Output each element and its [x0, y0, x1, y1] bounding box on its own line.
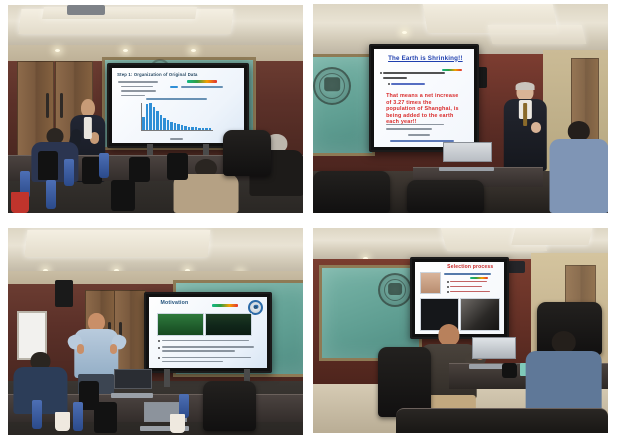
water-bottle — [32, 400, 42, 429]
display-stand — [164, 369, 170, 388]
slide-motivation: Motivation — [149, 297, 267, 368]
university-seal-icon — [313, 67, 351, 105]
slide-body-line — [121, 86, 153, 88]
presenter-head — [438, 324, 459, 346]
slide-bullet-line — [162, 357, 252, 359]
attendee-torso — [549, 139, 608, 213]
wall-display: The Earth is Shrinking!! That means a ne… — [369, 44, 479, 153]
lecturer-hand — [531, 122, 541, 133]
water-bottle — [64, 159, 74, 186]
foreground-bench — [396, 408, 608, 433]
slide-title: Step 1: Organization of Original Data — [117, 72, 197, 77]
bar — [149, 103, 152, 130]
ceiling-panel — [511, 228, 593, 244]
slide-body-line — [121, 90, 155, 92]
legend-gradient-bar — [442, 69, 462, 71]
microphone — [167, 153, 188, 180]
university-seal-icon — [378, 273, 412, 307]
scene-top-right: The Earth is Shrinking!! That means a ne… — [313, 4, 608, 213]
presenter-shirt — [84, 117, 92, 139]
slide-earth-is-shrinking: The Earth is Shrinking!! That means a ne… — [374, 49, 474, 148]
laptop — [443, 142, 490, 171]
ceiling-panel — [24, 230, 210, 257]
office-chair — [223, 130, 270, 176]
downlight-icon — [191, 49, 196, 52]
ceiling-projector — [508, 261, 526, 273]
legend-gradient-bar — [187, 80, 216, 83]
seal-core — [324, 78, 340, 92]
legend-swatch — [170, 86, 178, 89]
bar — [160, 115, 163, 130]
listener-head — [551, 331, 576, 354]
slide-subtitle-line — [444, 273, 492, 275]
photo-collage: Step 1: Organization of Original Data — [0, 0, 623, 447]
display-panel: Selection process — [415, 262, 503, 334]
scene-bottom-left: Motivation — [8, 228, 303, 435]
slide-title: The Earth is Shrinking!! — [388, 55, 463, 62]
water-bottle — [99, 153, 109, 178]
presenter-hand — [77, 344, 85, 354]
legend-gradient-bar — [212, 304, 238, 307]
laptop-screen — [443, 142, 492, 162]
photo-bottom-left: Motivation — [8, 228, 303, 435]
ceiling-panel — [488, 25, 587, 44]
photo-top-right: The Earth is Shrinking!! That means a ne… — [313, 4, 608, 213]
lecturer-tie — [524, 103, 528, 126]
legend-label — [181, 86, 223, 88]
slide-bullet-line — [391, 83, 425, 85]
laptop-keyboard — [439, 167, 495, 172]
histogram-chart — [142, 103, 211, 130]
laptop-keyboard — [111, 393, 153, 398]
display-panel: Motivation — [149, 297, 267, 368]
bar — [156, 111, 159, 130]
x-axis-label — [170, 138, 183, 140]
slide-bullet-line — [450, 281, 487, 283]
slide-bullet-line — [162, 361, 223, 363]
bar — [153, 107, 156, 130]
water-bottle — [46, 180, 56, 209]
microphone — [94, 402, 118, 433]
scene-top-left: Step 1: Organization of Original Data — [8, 5, 303, 213]
wall-display: Motivation — [144, 292, 272, 373]
lecturer — [502, 83, 549, 171]
slide-bullet-line — [162, 340, 249, 342]
slide-author-line — [408, 134, 430, 136]
microphone — [502, 363, 517, 377]
chart-caption — [146, 98, 207, 100]
presenter-hand — [110, 344, 118, 354]
bullet-icon — [158, 340, 160, 342]
slide-bullet-line — [162, 346, 254, 348]
bar — [163, 118, 166, 129]
slide-title: Selection process — [447, 264, 493, 270]
laptop-screen — [114, 369, 151, 389]
ceiling-panel — [42, 7, 197, 19]
seal-core — [253, 305, 258, 309]
bullet-icon — [380, 72, 382, 74]
office-chair — [313, 171, 390, 213]
lecturer-hair-icon — [516, 82, 535, 91]
slide-bullet-line — [162, 350, 235, 352]
photo-top-left: Step 1: Organization of Original Data — [8, 5, 303, 213]
presenter-head — [81, 99, 95, 117]
slide-bullet-line — [450, 291, 491, 293]
water-bottle — [73, 402, 83, 431]
wall-speaker — [55, 280, 73, 307]
bar — [170, 122, 173, 130]
paper-cup — [55, 412, 70, 431]
laptop — [114, 369, 149, 398]
seal-core — [388, 283, 402, 295]
presenter-head — [88, 313, 104, 331]
bar — [142, 117, 145, 129]
office-chair — [407, 180, 484, 213]
downlight-icon — [402, 31, 407, 34]
legend-gradient-bar — [470, 277, 488, 279]
slide-source-line — [386, 128, 432, 130]
bullet-icon — [388, 83, 390, 85]
slide-bullet-line — [383, 72, 445, 74]
laptop-screen — [472, 337, 515, 359]
office-chair — [203, 381, 256, 431]
office-chair — [378, 347, 431, 417]
slide-selection-process: Selection process — [415, 262, 503, 334]
scene-bottom-right: Selection process — [313, 228, 608, 433]
slide-image-night-field — [205, 313, 252, 336]
bar — [146, 104, 149, 130]
slide-body-line — [121, 95, 145, 97]
ceiling-projector — [67, 5, 105, 15]
downlight-icon — [123, 49, 128, 52]
bullet-icon — [447, 286, 449, 288]
attendee — [549, 121, 608, 213]
door-handle — [60, 93, 63, 118]
downlight-icon — [55, 49, 60, 52]
slide-body-line — [118, 81, 158, 83]
collage-caption: Seminar presentations in a university co… — [0, 0, 1, 1]
display-panel: The Earth is Shrinking!! That means a ne… — [374, 49, 474, 148]
bar — [167, 120, 170, 129]
slide-source-line — [386, 124, 444, 126]
chart-y-axis — [141, 103, 142, 130]
slide-bullet-line — [450, 286, 482, 288]
bullet-icon — [447, 291, 449, 293]
paper-cup — [11, 192, 29, 213]
door-handle — [46, 93, 49, 118]
bullet-icon — [158, 357, 160, 359]
bullet-icon — [158, 347, 160, 349]
bullet-icon — [447, 281, 449, 283]
microphone — [38, 151, 59, 180]
microphone — [111, 180, 135, 211]
paper-cup — [170, 414, 185, 433]
slide-title: Motivation — [160, 300, 188, 306]
attendee-head — [567, 121, 589, 141]
microphone — [129, 157, 150, 182]
slide-portrait-photo — [420, 272, 441, 294]
slide-bullet-line — [383, 77, 407, 79]
photo-bottom-right: Selection process — [313, 228, 608, 433]
slide-highlight-text: That means a net increase of 3.27 times … — [386, 93, 462, 126]
highlight-line-1: That means a net increase of 3.27 times … — [386, 93, 459, 125]
slide-image-green-field — [157, 313, 204, 336]
audience-torso — [173, 174, 238, 213]
chart-x-axis — [141, 130, 213, 131]
